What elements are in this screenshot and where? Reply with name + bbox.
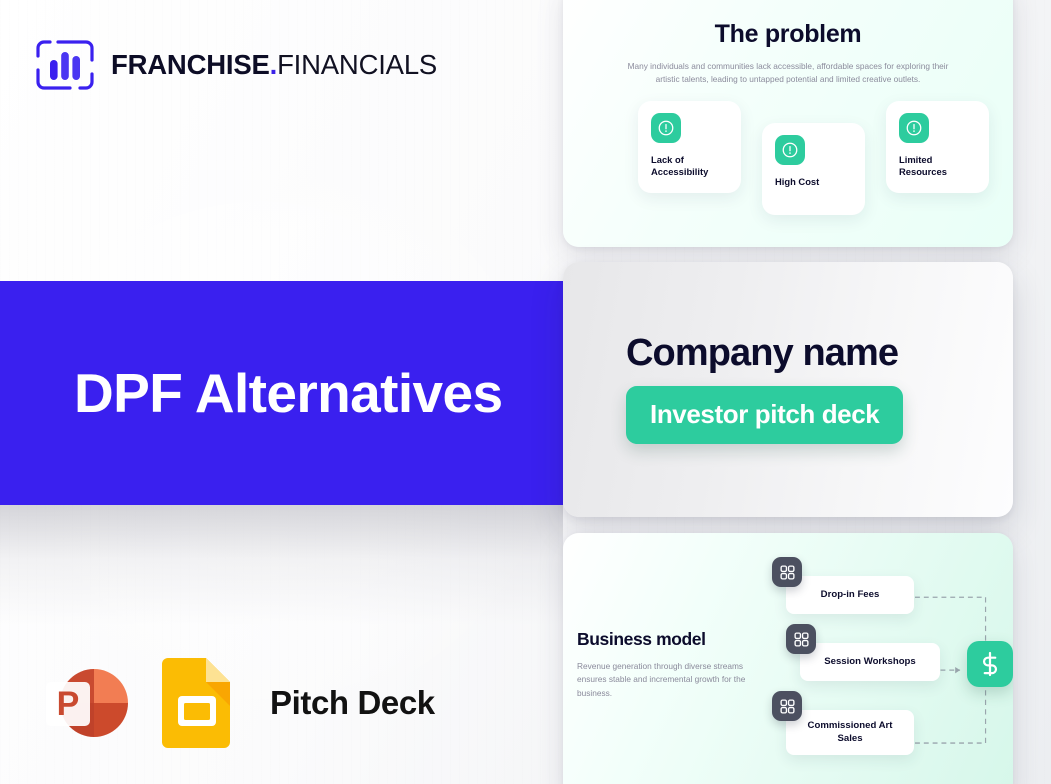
svg-text:P: P (57, 685, 80, 723)
grid-squares-icon (786, 624, 816, 654)
pitch-deck-preview-page: FRANCHISE.FINANCIALS DPF Alternatives P (0, 0, 1051, 784)
brand-name-dot: . (270, 49, 277, 80)
problem-card-title: Limited Resources (899, 154, 976, 179)
alert-circle-icon (775, 135, 805, 165)
google-slides-icon (162, 658, 232, 748)
business-slide-title: Business model (577, 629, 772, 650)
business-slide-subtitle: Revenue generation through diverse strea… (577, 660, 772, 700)
bar-chart-logo-icon (36, 36, 94, 94)
problem-slide-subtitle: Many individuals and communities lack ac… (623, 60, 953, 87)
problem-card: Limited Resources (886, 101, 989, 193)
brand-name-primary: FRANCHISE (111, 49, 270, 80)
grid-squares-icon (772, 691, 802, 721)
brand-logo: FRANCHISE.FINANCIALS (36, 36, 437, 94)
grid-squares-icon (772, 557, 802, 587)
business-model-diagram: Drop-in Fees Session Workshops Com (768, 555, 1013, 784)
brand-name-secondary: FINANCIALS (277, 49, 437, 80)
problem-card: High Cost (762, 123, 865, 215)
problem-card-group: Lack of Accessibility High Cost (589, 101, 987, 213)
slide-preview-company-name[interactable]: Company name Investor pitch deck (563, 262, 1013, 517)
alert-circle-icon (651, 113, 681, 143)
slide-preview-the-problem[interactable]: The problem Many individuals and communi… (563, 0, 1013, 247)
investor-pitch-deck-badge: Investor pitch deck (626, 386, 903, 444)
revenue-stream-chip: Commissioned Art Sales (786, 710, 914, 755)
deck-title-banner: DPF Alternatives (0, 281, 563, 505)
problem-card: Lack of Accessibility (638, 101, 741, 193)
revenue-stream-chip: Drop-in Fees (786, 576, 914, 614)
dollar-sign-icon (967, 641, 1013, 687)
page-title: DPF Alternatives (74, 366, 503, 421)
problem-slide-title: The problem (589, 20, 987, 49)
slide-preview-business-model[interactable]: Business model Revenue generation throug… (563, 533, 1013, 784)
problem-card-title: Lack of Accessibility (651, 154, 728, 179)
alert-circle-icon (899, 113, 929, 143)
brand-name: FRANCHISE.FINANCIALS (111, 51, 437, 79)
format-availability-row: P Pitch Deck (38, 655, 435, 751)
format-label: Pitch Deck (270, 684, 435, 722)
banner-shadow (0, 505, 563, 625)
problem-card-title: High Cost (775, 176, 852, 188)
microsoft-powerpoint-icon: P (38, 655, 134, 751)
revenue-stream-chip: Session Workshops (800, 643, 940, 681)
company-slide-title: Company name (626, 334, 973, 372)
